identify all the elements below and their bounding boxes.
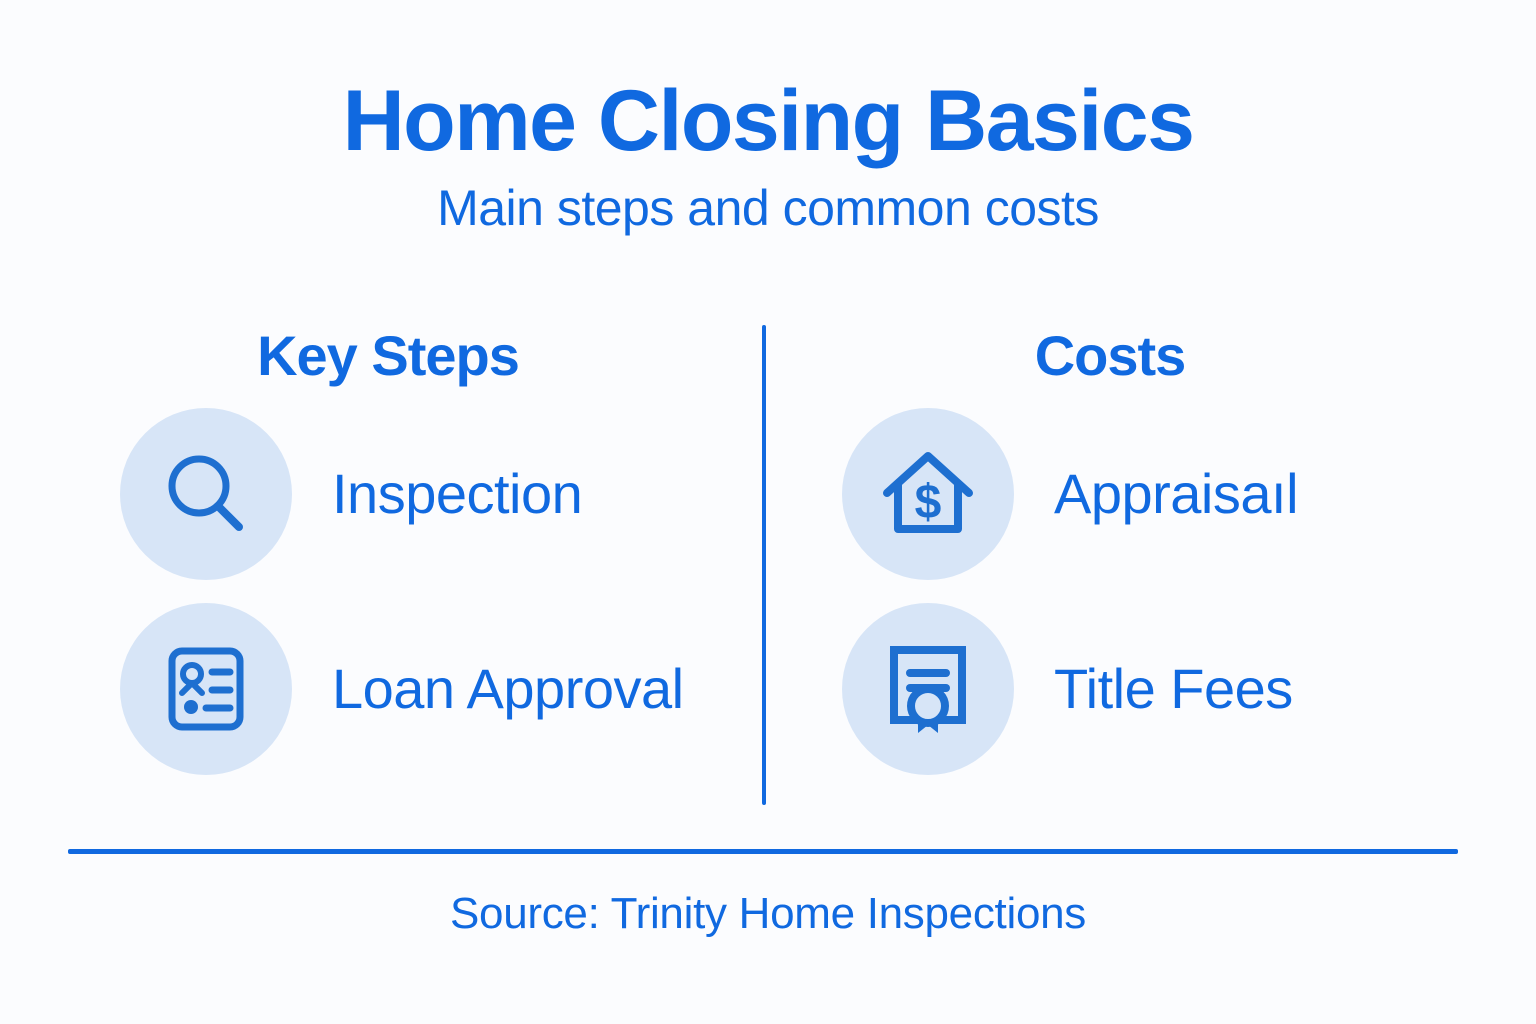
column-divider [762,325,766,805]
column-costs: Costs $ Appraisaıl [790,320,1470,820]
magnifier-icon [120,408,292,580]
source-note: Source: Trinity Home Inspections [0,890,1536,938]
header: Home Closing Basics Main steps and commo… [0,0,1536,234]
list-item: $ Appraisaıl [790,408,1470,580]
list-item-label: Loan Approval [332,661,684,717]
list-item-label: Title Fees [1054,661,1293,717]
page-subtitle: Main steps and common costs [0,166,1536,235]
list-item: Title Fees [790,603,1470,775]
list-item: Loan Approval [68,603,748,775]
list-item-label: Inspection [332,466,582,522]
certificate-seal-icon [842,603,1014,775]
svg-text:$: $ [915,476,942,529]
item-list-key-steps: Inspection Loan Ap [68,408,748,798]
footer-divider [68,849,1458,854]
column-key-steps: Key Steps Inspection [68,320,748,820]
column-heading-costs: Costs [790,320,1430,384]
item-list-costs: $ Appraisaıl T [790,408,1470,798]
columns-container: Key Steps Inspection [0,320,1536,820]
list-item-label: Appraisaıl [1054,466,1298,522]
id-card-icon [120,603,292,775]
infographic-root: Home Closing Basics Main steps and commo… [0,0,1536,1024]
column-heading-key-steps: Key Steps [68,320,708,384]
list-item: Inspection [68,408,748,580]
house-dollar-icon: $ [842,408,1014,580]
page-title: Home Closing Basics [0,0,1536,166]
